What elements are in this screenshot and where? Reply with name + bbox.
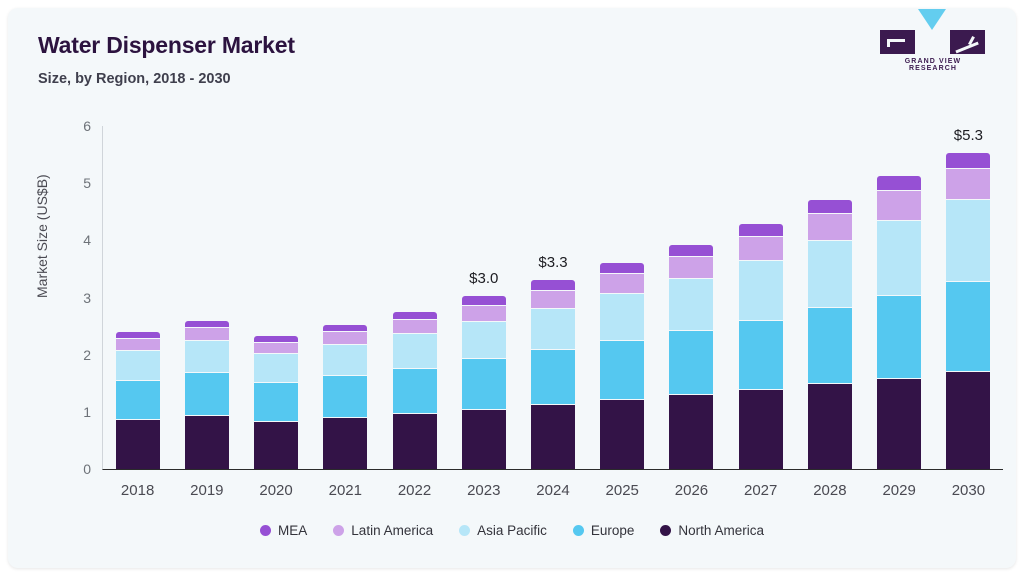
x-axis-tick-2021: 2021 [311, 482, 380, 499]
plot-area: 0123456 $3.0$3.3$5.3 2018201920202021202… [102, 126, 1003, 470]
bar-segment-asia-pacific[interactable] [254, 353, 298, 382]
legend-label: Europe [591, 523, 635, 538]
x-axis-tick-2019: 2019 [172, 482, 241, 499]
bar-segment-latin-america[interactable] [739, 236, 783, 260]
chart-subtitle: Size, by Region, 2018 - 2030 [38, 71, 231, 87]
x-axis-tick-2025: 2025 [588, 482, 657, 499]
x-axis-tick-2029: 2029 [865, 482, 934, 499]
bar-segment-latin-america[interactable] [323, 331, 367, 343]
bar-segment-asia-pacific[interactable] [531, 308, 575, 350]
x-axis-tick-2018: 2018 [103, 482, 172, 499]
bar-stack-2023[interactable]: $3.0 [462, 296, 506, 469]
bar-segment-europe[interactable] [531, 349, 575, 404]
bar-segment-latin-america[interactable] [116, 338, 160, 350]
bar-segment-north-america[interactable] [739, 389, 783, 469]
legend-label: Asia Pacific [477, 523, 547, 538]
bar-value-label-2030: $5.3 [954, 127, 983, 144]
bar-segment-north-america[interactable] [808, 383, 852, 469]
page-title: Water Dispenser Market [38, 32, 295, 59]
bar-segment-north-america[interactable] [946, 371, 990, 469]
x-axis-tick-2020: 2020 [241, 482, 310, 499]
chart-legend: MEALatin AmericaAsia PacificEuropeNorth … [8, 523, 1016, 538]
y-axis-tick: 3 [83, 290, 91, 306]
bar-segment-asia-pacific[interactable] [185, 340, 229, 372]
bar-segment-asia-pacific[interactable] [462, 321, 506, 358]
bar-segment-mea[interactable] [739, 224, 783, 235]
bar-segment-mea[interactable] [462, 296, 506, 305]
bar-segment-mea[interactable] [531, 280, 575, 289]
bar-segment-latin-america[interactable] [393, 319, 437, 333]
bar-segment-asia-pacific[interactable] [946, 199, 990, 281]
bar-segment-europe[interactable] [877, 295, 921, 378]
bar-segment-europe[interactable] [254, 382, 298, 421]
bar-stack-2020[interactable] [254, 336, 298, 469]
bar-segment-asia-pacific[interactable] [323, 344, 367, 375]
bar-segment-latin-america[interactable] [877, 190, 921, 220]
bar-segment-latin-america[interactable] [254, 342, 298, 354]
y-axis-tick: 5 [83, 175, 91, 191]
bar-segment-asia-pacific[interactable] [393, 333, 437, 367]
bar-segment-europe[interactable] [739, 320, 783, 390]
bar-value-label-2024: $3.3 [538, 254, 567, 271]
bar-segment-north-america[interactable] [185, 415, 229, 469]
bar-segment-europe[interactable] [808, 307, 852, 383]
chart-card: Water Dispenser Market Size, by Region, … [8, 8, 1016, 568]
bar-segment-north-america[interactable] [669, 394, 713, 469]
bar-segment-europe[interactable] [600, 340, 644, 399]
x-axis-tick-2024: 2024 [518, 482, 587, 499]
bar-segment-europe[interactable] [946, 281, 990, 371]
legend-swatch-icon [333, 525, 344, 536]
bar-segment-asia-pacific[interactable] [808, 240, 852, 307]
bar-segment-asia-pacific[interactable] [877, 220, 921, 295]
bar-segment-north-america[interactable] [600, 399, 644, 469]
bar-segment-mea[interactable] [808, 200, 852, 213]
y-axis-tick: 1 [83, 404, 91, 420]
legend-label: MEA [278, 523, 307, 538]
x-axis-tick-2022: 2022 [380, 482, 449, 499]
bar-segment-north-america[interactable] [254, 421, 298, 469]
logo-marks [880, 30, 986, 54]
bar-stack-2021[interactable] [323, 325, 367, 469]
bar-segment-asia-pacific[interactable] [116, 350, 160, 380]
bar-series-container: $3.0$3.3$5.3 [103, 126, 1003, 469]
bar-stack-2027[interactable] [739, 224, 783, 469]
bar-segment-asia-pacific[interactable] [600, 293, 644, 340]
x-axis-tick-2027: 2027 [726, 482, 795, 499]
legend-item-north-america[interactable]: North America [660, 523, 764, 538]
legend-label: North America [678, 523, 764, 538]
bar-value-label-2023: $3.0 [469, 270, 498, 287]
legend-item-mea[interactable]: MEA [260, 523, 307, 538]
bar-segment-north-america[interactable] [877, 378, 921, 469]
legend-swatch-icon [260, 525, 271, 536]
x-axis-tick-2023: 2023 [449, 482, 518, 499]
bar-stack-2026[interactable] [669, 245, 713, 469]
bar-segment-mea[interactable] [600, 263, 644, 273]
bar-stack-2019[interactable] [185, 321, 229, 469]
bar-segment-north-america[interactable] [531, 404, 575, 469]
y-axis-label: Market Size (US$B) [34, 174, 50, 298]
x-axis-tick-2026: 2026 [657, 482, 726, 499]
bar-segment-mea[interactable] [669, 245, 713, 256]
logo-g-icon [880, 30, 915, 54]
bar-stack-2029[interactable] [877, 176, 921, 469]
bar-segment-latin-america[interactable] [600, 273, 644, 293]
y-axis-tick: 6 [83, 118, 91, 134]
bar-segment-europe[interactable] [393, 368, 437, 414]
grand-view-research-logo: GRAND VIEW RESEARCH [880, 30, 986, 68]
bar-segment-latin-america[interactable] [808, 213, 852, 240]
logo-wordmark: GRAND VIEW RESEARCH [880, 58, 986, 72]
bar-stack-2028[interactable] [808, 200, 852, 469]
legend-swatch-icon [459, 525, 470, 536]
bar-segment-latin-america[interactable] [462, 305, 506, 321]
bar-segment-europe[interactable] [116, 380, 160, 419]
bar-segment-north-america[interactable] [116, 419, 160, 469]
bar-segment-europe[interactable] [185, 372, 229, 415]
y-axis-tick: 4 [83, 232, 91, 248]
bar-segment-north-america[interactable] [323, 417, 367, 469]
legend-swatch-icon [660, 525, 671, 536]
bar-segment-mea[interactable] [393, 312, 437, 319]
y-axis-tick: 2 [83, 347, 91, 363]
bar-segment-asia-pacific[interactable] [739, 260, 783, 319]
bar-stack-2022[interactable] [393, 312, 437, 469]
logo-r-icon [950, 30, 985, 54]
x-axis-tick-2030: 2030 [934, 482, 1003, 499]
bar-segment-asia-pacific[interactable] [669, 278, 713, 330]
y-axis-tick: 0 [83, 461, 91, 477]
bar-segment-europe[interactable] [669, 330, 713, 394]
legend-item-latin-america[interactable]: Latin America [333, 523, 433, 538]
legend-swatch-icon [573, 525, 584, 536]
bar-stack-2030[interactable]: $5.3 [946, 153, 990, 469]
bar-segment-mea[interactable] [877, 176, 921, 190]
bar-segment-europe[interactable] [462, 358, 506, 409]
logo-v-triangle-icon [918, 30, 947, 54]
bar-segment-north-america[interactable] [393, 413, 437, 469]
bar-segment-europe[interactable] [323, 375, 367, 417]
legend-item-europe[interactable]: Europe [573, 523, 635, 538]
bar-stack-2024[interactable]: $3.3 [531, 280, 575, 469]
bar-segment-latin-america[interactable] [185, 327, 229, 340]
bar-segment-mea[interactable] [946, 153, 990, 168]
bar-segment-latin-america[interactable] [946, 168, 990, 199]
legend-label: Latin America [351, 523, 433, 538]
legend-item-asia-pacific[interactable]: Asia Pacific [459, 523, 547, 538]
bar-segment-north-america[interactable] [462, 409, 506, 469]
bar-stack-2018[interactable] [116, 332, 160, 469]
bar-segment-latin-america[interactable] [669, 256, 713, 278]
x-axis-tick-2028: 2028 [795, 482, 864, 499]
bar-segment-latin-america[interactable] [531, 290, 575, 308]
bar-stack-2025[interactable] [600, 263, 644, 469]
